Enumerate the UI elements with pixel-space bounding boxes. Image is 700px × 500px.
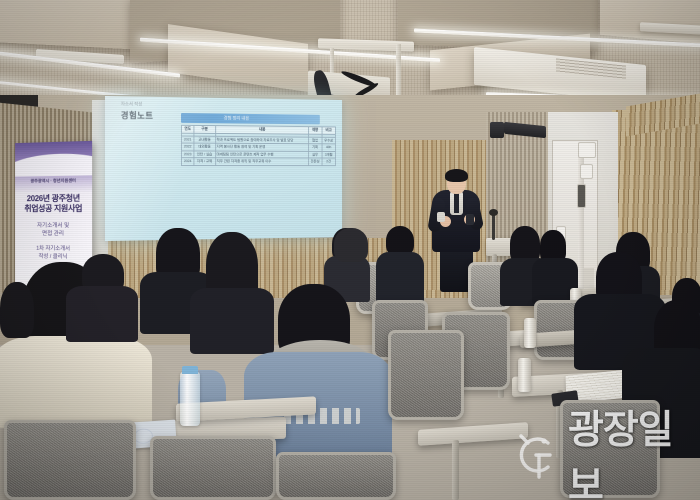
slide-table-header-3: 역량 <box>308 127 322 134</box>
gwangjang-logo-icon <box>508 427 564 483</box>
slide-table-cell: 3개월 <box>322 151 336 158</box>
podium-mic-stand <box>492 214 495 240</box>
slide-table-cell: 우수상 <box>322 137 336 144</box>
banner-headline-line2: 취업성공 지원사업 <box>15 204 92 215</box>
wall-device-upper <box>578 142 596 158</box>
thermos-bottle-right <box>524 318 536 348</box>
presentation-clicker[interactable] <box>466 214 474 225</box>
slide-table-header-0: 연도 <box>182 125 194 133</box>
slide-table-cell: 실무 <box>308 151 322 158</box>
projection-screen: 자소서 작성 경험노트 경험 정리 내용 연도구분내용역량비고 2021교내활동… <box>105 96 342 241</box>
slide-table-cell: 2024 <box>182 158 194 165</box>
chair-back-mesh <box>4 420 136 500</box>
slide-table-cell: 2건 <box>322 158 336 165</box>
attendee-puffer-jacket <box>0 336 152 428</box>
slide-table-cell: 40h <box>322 144 336 151</box>
chair-back-mesh <box>276 452 396 500</box>
water-bottle <box>180 372 200 426</box>
attendee-torso <box>376 252 424 304</box>
slide-table-header-1: 구분 <box>194 125 215 133</box>
slide-table-cell: 2023 <box>182 151 194 158</box>
chair-floor-right[interactable] <box>388 330 464 420</box>
slide-table-cell: 전문성 <box>308 158 322 165</box>
watermark-text: 광장일보 <box>568 399 694 500</box>
chair-back-mesh <box>388 330 464 420</box>
banner-subtext-2: 1차 자기소개서 작성 / 클리닉 <box>15 246 92 263</box>
slide-table-cell: 협업 <box>308 137 322 144</box>
slide-table-cell: 2022 <box>182 143 194 150</box>
slide-table: 연도구분내용역량비고 2021교내활동학과 프로젝트 팀원으로 참여하여 자료조… <box>181 125 336 166</box>
podium-mic-head <box>489 209 498 216</box>
presenter-microphone <box>437 212 445 222</box>
chair-front-center-2[interactable] <box>276 452 396 500</box>
water-bottle-cap <box>182 366 198 374</box>
banner-sub4: 작성 / 클리닉 <box>15 253 92 262</box>
presenter-hair <box>445 169 468 182</box>
slide-table-body: 2021교내활동학과 프로젝트 팀원으로 참여하여 자료조사 및 발표 담당협업… <box>182 133 336 165</box>
slide-header-bar-label: 경험 정리 내용 <box>224 116 249 122</box>
watermark: 광장일보 <box>508 424 694 486</box>
banner-top-gradient <box>15 141 92 177</box>
slide-table-cell: 2021 <box>182 136 194 143</box>
ceiling-speaker-2 <box>490 122 504 138</box>
photograph: 자소서 작성 경험노트 경험 정리 내용 연도구분내용역량비고 2021교내활동… <box>0 0 700 500</box>
chair-front-center[interactable] <box>150 436 276 500</box>
slide-table-header-4: 비고 <box>322 127 336 134</box>
wall-device-lower <box>580 164 593 179</box>
thermos-bottle-front <box>518 358 531 392</box>
slide-table-cell: 직무 관련 자격증 취득 및 직무교육 이수 <box>215 158 308 165</box>
slide-table-cell: 대외활동 <box>194 143 215 150</box>
slide-table-cell: 기획 <box>308 144 322 151</box>
wall-switch-panel[interactable] <box>577 184 586 208</box>
attendee-hair <box>334 228 368 262</box>
attendee-torso <box>190 288 274 354</box>
banner-sub2: 면접 관리 <box>15 230 92 239</box>
slide-title: 경험노트 <box>121 109 154 121</box>
chair-back-mesh <box>150 436 276 500</box>
slide-table-cell: 인턴 / 실습 <box>194 151 215 158</box>
slide-table-row: 2024자격 / 교육직무 관련 자격증 취득 및 직무교육 이수전문성2건 <box>182 158 336 165</box>
slide-table-cell: 자격 / 교육 <box>194 158 215 165</box>
slide-header-bar: 경험 정리 내용 <box>181 113 320 124</box>
chair-front-left[interactable] <box>4 420 136 500</box>
banner-swoosh <box>15 152 92 176</box>
presenter-tie <box>454 193 459 213</box>
attendee-hair <box>0 282 34 338</box>
banner-subtext-1: 자기소개서 및 면접 관리 <box>15 222 92 239</box>
banner-organization: 광주광역시 · 청년지원센터 <box>15 177 92 184</box>
banner-headline: 2026년 광주청년 취업성공 지원사업 <box>15 194 92 215</box>
attendee-torso <box>66 286 138 342</box>
desk-leg-floor-right <box>452 440 459 500</box>
slide-table-cell: 교내활동 <box>194 136 215 143</box>
slide-eyebrow: 자소서 작성 <box>121 101 143 107</box>
